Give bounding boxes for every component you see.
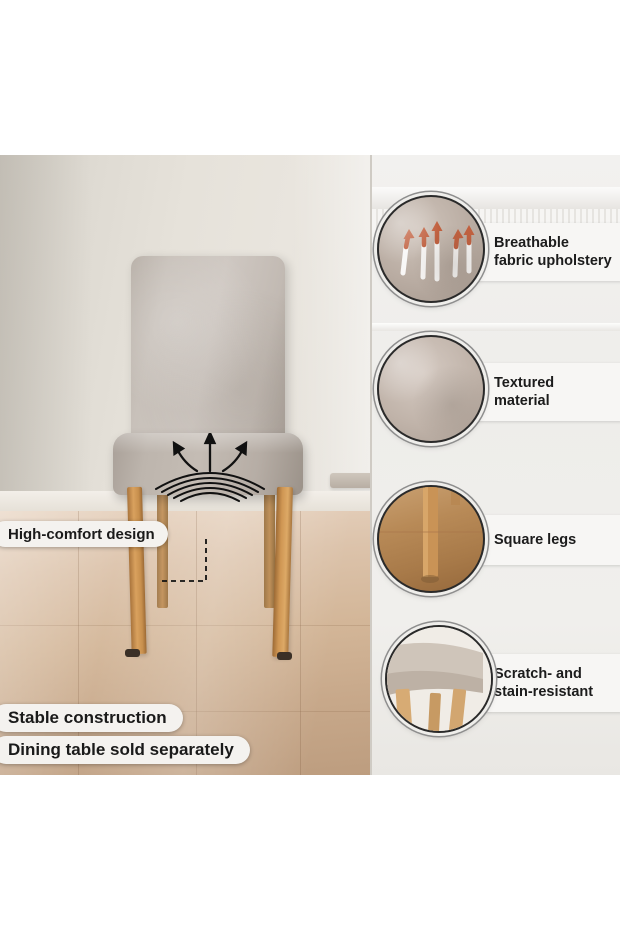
high-comfort-leader-line — [160, 535, 220, 615]
wall-trim-band — [372, 323, 620, 331]
fabric-texture-overlay — [379, 337, 483, 441]
cushion-comfort-arrows — [140, 433, 280, 505]
fabric-weave-closeup-icon — [377, 195, 485, 303]
fabric-texture-closeup-icon — [377, 335, 485, 443]
seat-corner-closeup-icon — [385, 625, 493, 733]
wall-shadow — [0, 155, 92, 507]
callout-stable-construction: Stable construction — [0, 704, 183, 732]
feature-label-line1: Scratch- and — [494, 666, 582, 682]
product-infographic: High-comfort design Stable construction … — [0, 155, 620, 775]
feature-label-line1: Square legs — [494, 532, 576, 548]
feature-callout-column: Breathable fabric upholstery — [370, 155, 620, 775]
leg-shape-icon — [379, 487, 483, 591]
feature-label-line2: stain-resistant — [494, 684, 593, 700]
chair-foot-left — [125, 649, 140, 657]
fabric-texture-overlay — [379, 197, 483, 301]
callout-high-comfort-design: High-comfort design — [0, 521, 168, 547]
feature-label-line1: Breathable — [494, 235, 569, 251]
seat-corner-shape-icon — [387, 627, 491, 731]
callout-label: Stable construction — [8, 708, 167, 728]
feature-label-line1: Textured — [494, 375, 554, 391]
feature-label-line2: material — [494, 393, 550, 409]
feature-label-line2: fabric upholstery — [494, 253, 612, 269]
callout-label: High-comfort design — [8, 526, 155, 543]
feature-label-box: Breathable fabric upholstery — [472, 223, 620, 281]
feature-label-box: Scratch- and stain-resistant — [472, 654, 620, 712]
wooden-leg-closeup-icon — [377, 485, 485, 593]
wall-highlight — [292, 155, 370, 507]
feature-label-box: Textured material — [472, 363, 620, 421]
callout-dining-table-note: Dining table sold separately — [0, 736, 250, 764]
chair-backrest-texture — [131, 256, 285, 446]
dining-table-edge — [330, 473, 370, 488]
callout-label: Dining table sold separately — [8, 740, 234, 760]
feature-label-box: Square legs — [472, 515, 620, 565]
chair-foot-right — [277, 652, 292, 660]
chair-photo-pane: High-comfort design Stable construction … — [0, 155, 370, 775]
